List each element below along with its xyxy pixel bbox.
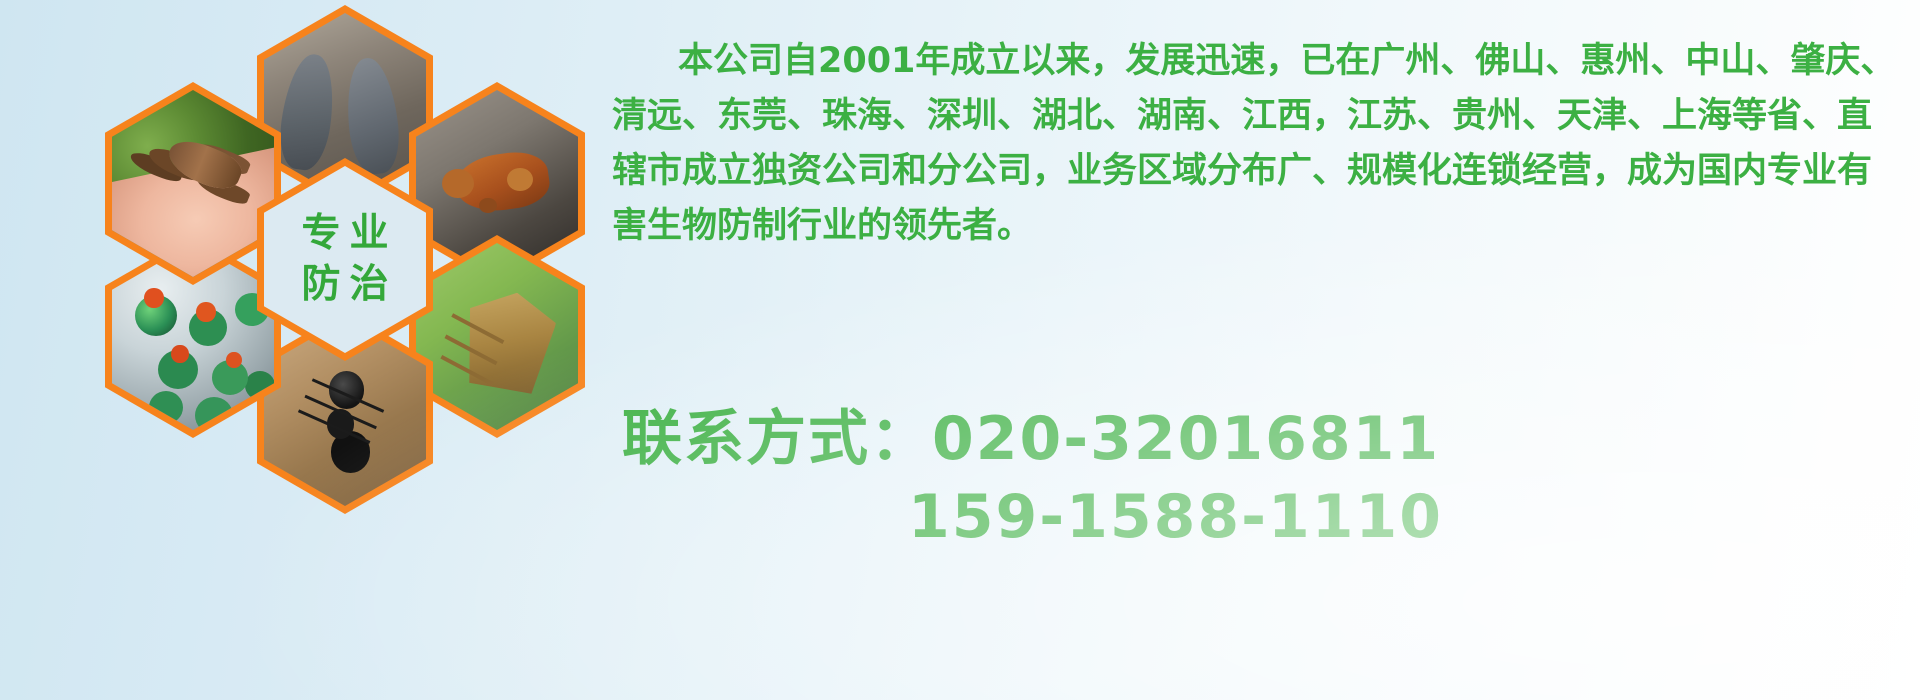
slogan-line-2: 防治: [292, 263, 397, 308]
pest-control-banner: 专业 防治 本公司自2001年成立以来，发展迅速，已在广州、佛山、惠州、中山、肇…: [0, 0, 1920, 700]
hex-cell-mosquito: [105, 82, 281, 285]
contact-phone-landline[interactable]: 联系方式：020-32016811: [622, 400, 1920, 478]
slogan-line-1: 专业: [292, 212, 397, 257]
hex-image-frame: [416, 243, 578, 430]
hex-image-frame: [112, 90, 274, 277]
slogan-text: 专业 防治: [264, 166, 426, 353]
contact-block: 联系方式：020-32016811 159-1588-1110: [622, 400, 1920, 556]
honeycomb-collage: 专业 防治: [95, 0, 595, 550]
company-description-text: 本公司自2001年成立以来，发展迅速，已在广州、佛山、惠州、中山、肇庆、清远、东…: [612, 34, 1902, 254]
contact-phone-mobile[interactable]: 159-1588-1110: [622, 478, 1920, 556]
stinkbug-photo: [416, 243, 578, 430]
company-description: 本公司自2001年成立以来，发展迅速，已在广州、佛山、惠州、中山、肇庆、清远、东…: [612, 34, 1902, 254]
hex-slogan-frame: 专业 防治: [264, 166, 426, 353]
hex-cell-slogan: 专业 防治: [257, 158, 433, 361]
hex-cell-stinkbug: [409, 235, 585, 438]
mosquito-photo: [112, 90, 274, 277]
